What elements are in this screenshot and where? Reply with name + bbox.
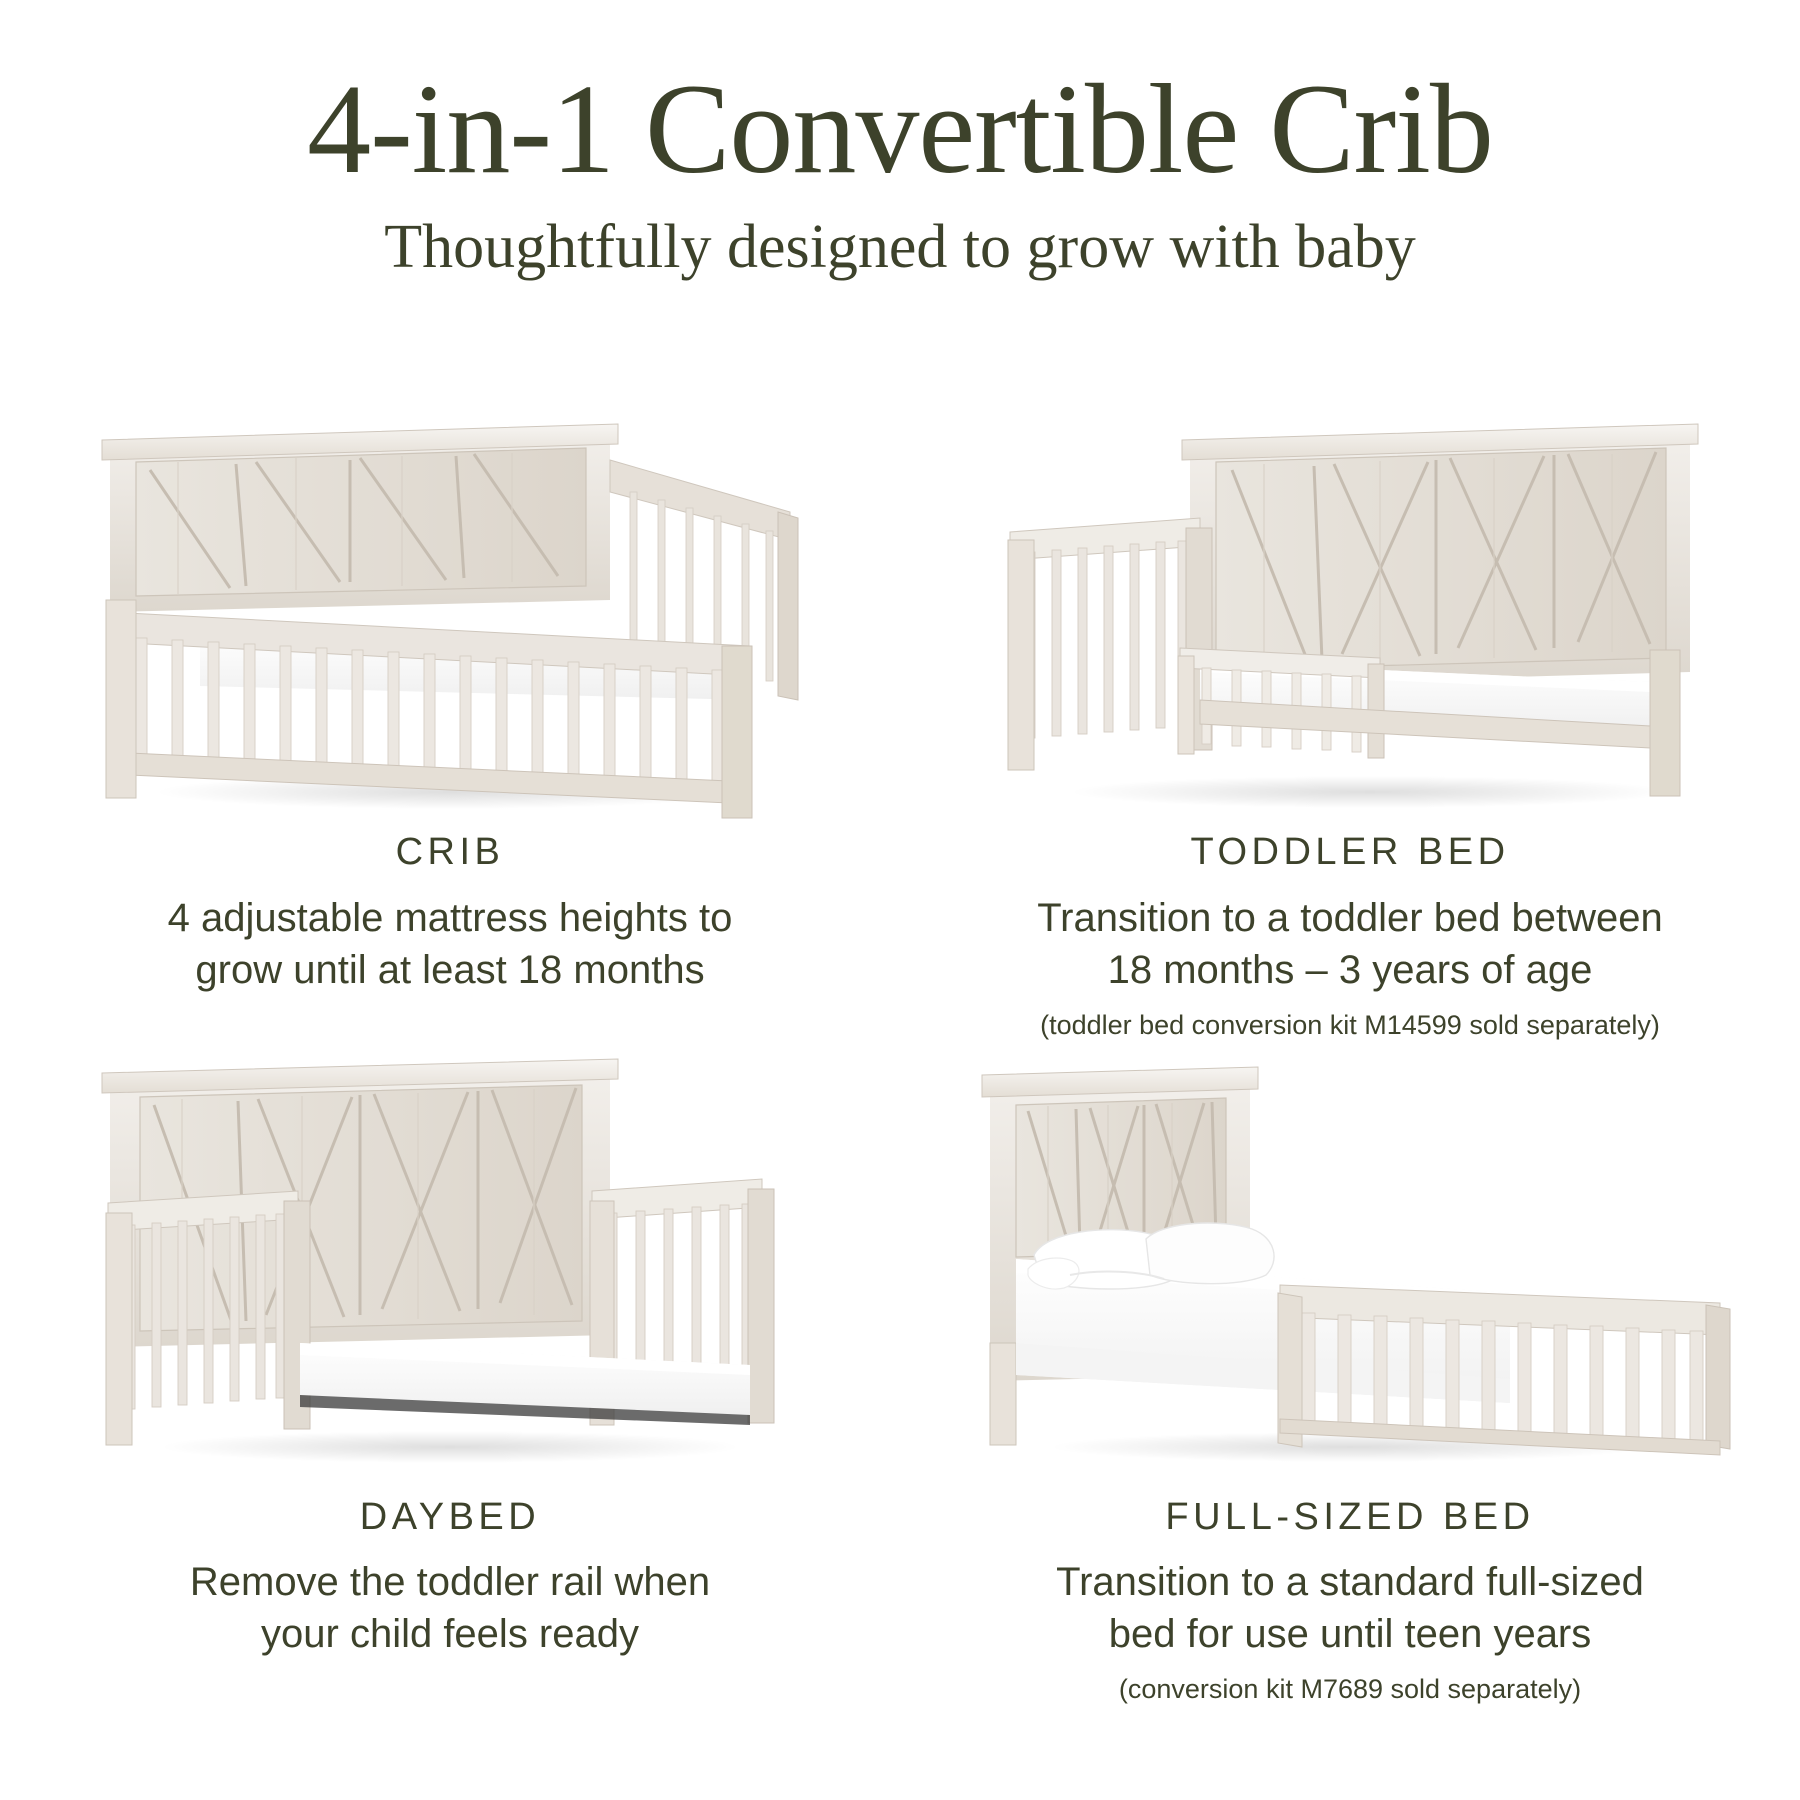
full-sized-bed-caption: FULL-SIZED BED Transition to a standard … bbox=[960, 1495, 1740, 1708]
full-sized-bed-illustration bbox=[950, 1043, 1750, 1483]
toddler-bed-illustration bbox=[950, 400, 1750, 820]
daybed-illustration bbox=[50, 1043, 850, 1483]
full-sized-bed-note: (conversion kit M7689 sold separately) bbox=[960, 1672, 1740, 1707]
full-sized-bed-body-line-2: bed for use until teen years bbox=[960, 1608, 1740, 1660]
toddler-bed-note: (toddler bed conversion kit M14599 sold … bbox=[960, 1008, 1740, 1043]
full-sized-bed-body: Transition to a standard full-sized bed … bbox=[960, 1556, 1740, 1660]
full-sized-bed-title: FULL-SIZED BED bbox=[960, 1495, 1740, 1541]
crib-illustration bbox=[50, 400, 850, 820]
toddler-bed-figure bbox=[940, 400, 1760, 820]
header: 4-in-1 Convertible Crib Thoughtfully des… bbox=[0, 0, 1800, 281]
daybed-caption: DAYBED Remove the toddler rail when your… bbox=[60, 1495, 840, 1661]
panel-crib: CRIB 4 adjustable mattress heights to gr… bbox=[0, 400, 900, 1043]
crib-body-line-1: 4 adjustable mattress heights to bbox=[60, 892, 840, 944]
crib-title: CRIB bbox=[60, 830, 840, 876]
panel-toddler-bed: TODDLER BED Transition to a toddler bed … bbox=[900, 400, 1800, 1043]
daybed-body: Remove the toddler rail when your child … bbox=[60, 1556, 840, 1660]
page-subtitle: Thoughtfully designed to grow with baby bbox=[0, 213, 1800, 281]
toddler-bed-body-line-2: 18 months – 3 years of age bbox=[960, 944, 1740, 996]
infographic-page: 4-in-1 Convertible Crib Thoughtfully des… bbox=[0, 0, 1800, 1800]
toddler-bed-title: TODDLER BED bbox=[960, 830, 1740, 876]
crib-caption: CRIB 4 adjustable mattress heights to gr… bbox=[60, 830, 840, 996]
daybed-figure bbox=[40, 1043, 860, 1483]
page-title: 4-in-1 Convertible Crib bbox=[0, 64, 1800, 195]
panel-daybed: DAYBED Remove the toddler rail when your… bbox=[0, 1043, 900, 1708]
panel-full-sized-bed: FULL-SIZED BED Transition to a standard … bbox=[900, 1043, 1800, 1708]
toddler-bed-body-line-1: Transition to a toddler bed between bbox=[960, 892, 1740, 944]
full-sized-bed-body-line-1: Transition to a standard full-sized bbox=[960, 1556, 1740, 1608]
crib-body-line-2: grow until at least 18 months bbox=[60, 944, 840, 996]
full-sized-bed-figure bbox=[940, 1043, 1760, 1483]
toddler-bed-caption: TODDLER BED Transition to a toddler bed … bbox=[960, 830, 1740, 1043]
daybed-title: DAYBED bbox=[60, 1495, 840, 1541]
toddler-bed-body: Transition to a toddler bed between 18 m… bbox=[960, 892, 1740, 996]
daybed-body-line-1: Remove the toddler rail when bbox=[60, 1556, 840, 1608]
crib-figure bbox=[40, 400, 860, 820]
crib-body: 4 adjustable mattress heights to grow un… bbox=[60, 892, 840, 996]
configuration-grid: CRIB 4 adjustable mattress heights to gr… bbox=[0, 400, 1800, 1707]
daybed-body-line-2: your child feels ready bbox=[60, 1608, 840, 1660]
